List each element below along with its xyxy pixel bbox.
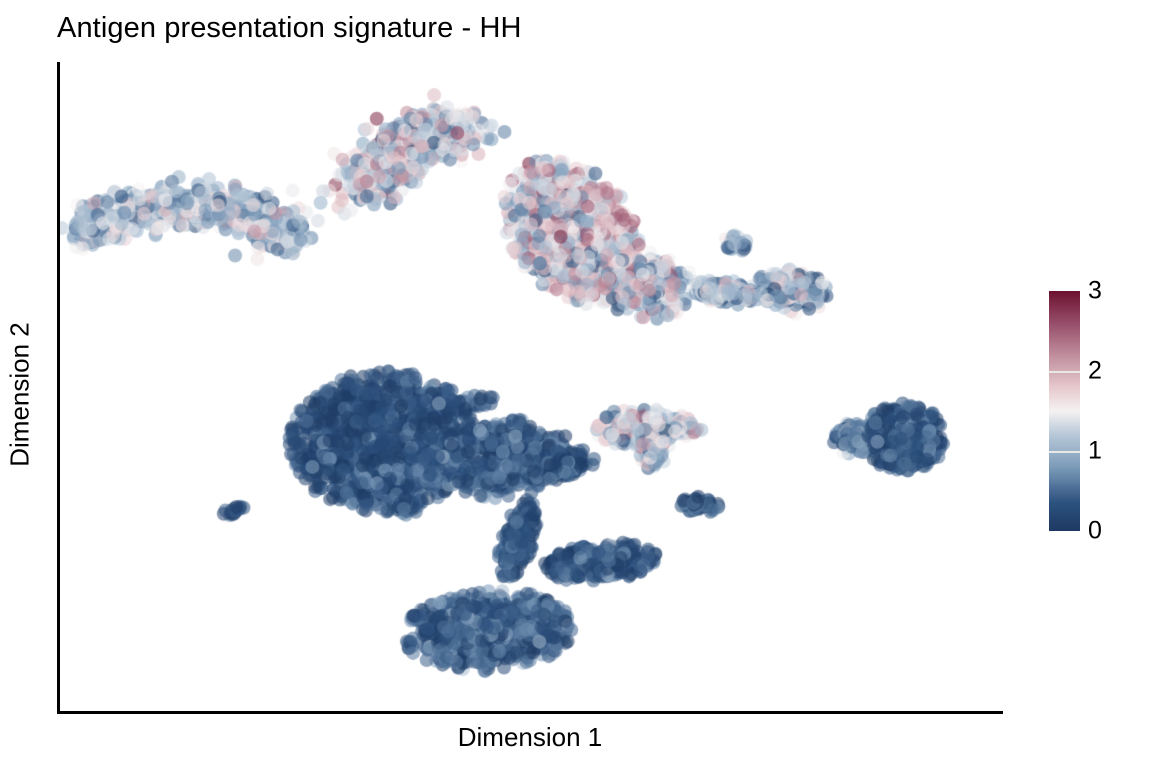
colorbar-tick-mark	[1049, 371, 1080, 373]
x-axis-line	[57, 711, 1003, 714]
color-legend: 3210	[1049, 291, 1149, 531]
colorbar-tick-label: 1	[1088, 439, 1102, 464]
colorbar-tick-mark	[1049, 451, 1080, 453]
umap-scatter-plot: Antigen presentation signature - HH Dime…	[0, 0, 1152, 768]
colorbar-gradient	[1049, 291, 1080, 531]
page-title: Antigen presentation signature - HH	[57, 12, 522, 45]
scatter-plot-canvas	[58, 60, 1003, 712]
colorbar-tick-label: 2	[1088, 358, 1102, 383]
x-axis-label: Dimension 1	[57, 722, 1003, 753]
colorbar-tick-label: 3	[1088, 279, 1102, 304]
y-axis-line	[57, 62, 60, 714]
colorbar-tick-label: 0	[1088, 519, 1102, 544]
y-axis-label: Dimension 2	[5, 69, 36, 721]
